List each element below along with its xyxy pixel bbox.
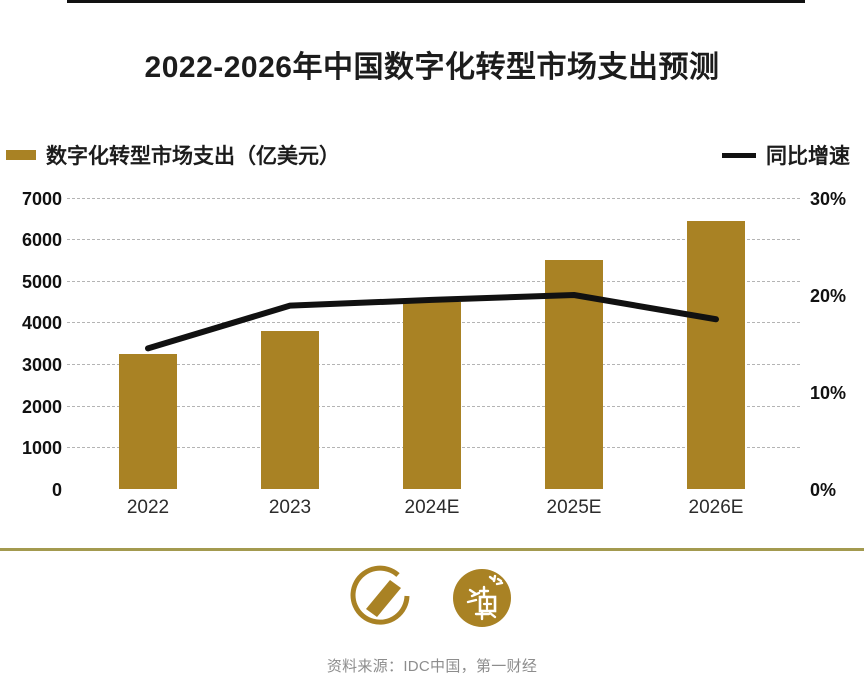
footer-divider <box>0 548 864 551</box>
footer-logos <box>0 562 864 634</box>
x-axis-tick-2024E: 2024E <box>382 497 482 519</box>
growth-rate-line-chart <box>0 0 864 560</box>
digital-china-tour-seal-logo <box>446 562 518 634</box>
growth-rate-line <box>148 295 716 348</box>
x-axis-tick-2026E: 2026E <box>666 497 766 519</box>
x-axis-tick-2022: 2022 <box>98 497 198 519</box>
x-axis-tick-2025E: 2025E <box>524 497 624 519</box>
x-axis-baseline <box>67 0 805 3</box>
diamond-circle-logo <box>346 562 418 634</box>
x-axis-tick-2023: 2023 <box>240 497 340 519</box>
chart-plot-area: 7000 6000 5000 4000 3000 2000 1000 0 30%… <box>0 0 864 560</box>
source-note: 资料来源：IDC中国，第一财经 <box>0 655 864 676</box>
